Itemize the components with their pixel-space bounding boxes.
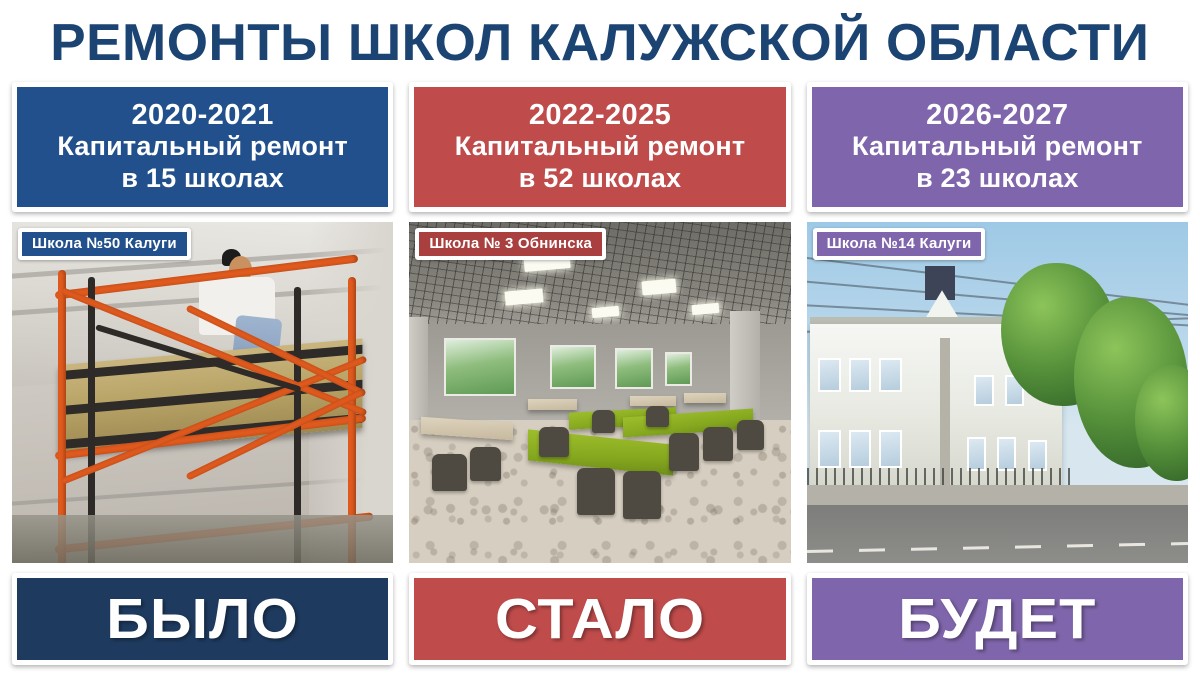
chair-2	[577, 468, 615, 516]
window-3	[615, 348, 653, 389]
building-window-7	[849, 430, 872, 468]
chair-8	[470, 447, 501, 481]
photo-future: Школа №14 Калуги	[807, 222, 1188, 563]
header-line2-future: Капитальный ремонт	[852, 131, 1143, 162]
header-card-now: 2022-2025 Капитальный ремонт в 52 школах	[409, 82, 790, 212]
header-years-before: 2020-2021	[132, 100, 274, 131]
window-2	[550, 345, 596, 389]
chair-5	[703, 427, 734, 461]
floor-shadow-shape	[12, 515, 393, 563]
header-card-before: 2020-2021 Капитальный ремонт в 15 школах	[12, 82, 393, 212]
header-years-now: 2022-2025	[529, 100, 671, 131]
photo-now: Школа № 3 Обнинска	[409, 222, 790, 563]
column-before: 2020-2021 Капитальный ремонт в 15 школах	[12, 82, 393, 665]
building-window-4	[974, 375, 993, 406]
building-window-11	[1028, 440, 1047, 471]
window-4	[665, 352, 692, 386]
table-far-1	[528, 399, 578, 409]
footer-bar-now: СТАЛО	[409, 573, 790, 665]
building-window-10	[997, 437, 1016, 471]
chair-4	[669, 433, 700, 471]
window-1	[444, 338, 516, 396]
header-line3-future: в 23 школах	[916, 163, 1079, 194]
building-window-3	[879, 358, 902, 392]
photo-scaffolding-ceiling-repair	[12, 222, 393, 563]
chair-7	[432, 454, 466, 492]
footer-bar-before: БЫЛО	[12, 573, 393, 665]
road-shape	[807, 505, 1188, 563]
building-window-9	[967, 437, 986, 471]
sidewalk-shape	[807, 485, 1188, 505]
photo-renovated-cafeteria	[409, 222, 790, 563]
building-window-8	[879, 430, 902, 468]
chair-9	[592, 410, 615, 434]
header-line3-before: в 15 школах	[121, 163, 284, 194]
footer-bar-future: БУДЕТ	[807, 573, 1188, 665]
table-far-2	[630, 396, 676, 406]
columns-container: 2020-2021 Капитальный ремонт в 15 школах	[0, 82, 1200, 675]
chair-3	[623, 471, 661, 519]
chair-6	[737, 420, 764, 451]
header-line3-now: в 52 школах	[519, 163, 682, 194]
photo-badge-now: Школа № 3 Обнинска	[415, 228, 606, 260]
chair-10	[646, 406, 669, 426]
page-title: РЕМОНТЫ ШКОЛ КАЛУЖСКОЙ ОБЛАСТИ	[50, 13, 1149, 73]
table-far-3	[684, 393, 726, 403]
photo-badge-before: Школа №50 Калуги	[18, 228, 191, 260]
header-line2-before: Капитальный ремонт	[57, 131, 348, 162]
column-now: 2022-2025 Капитальный ремонт в 52 школах	[409, 82, 790, 665]
footer-label-before: БЫЛО	[106, 586, 299, 652]
column-future: 2026-2027 Капитальный ремонт в 23 школах	[807, 82, 1188, 665]
footer-label-now: СТАЛО	[495, 586, 705, 652]
photo-before: Школа №50 Калуги	[12, 222, 393, 563]
header-line2-now: Капитальный ремонт	[455, 131, 746, 162]
fence-shape	[807, 468, 1074, 485]
infographic-root: РЕМОНТЫ ШКОЛ КАЛУЖСКОЙ ОБЛАСТИ 2020-2021…	[0, 0, 1200, 675]
photo-old-school-building	[807, 222, 1188, 563]
building-window-1	[818, 358, 841, 392]
building-window-2	[849, 358, 872, 392]
title-bar: РЕМОНТЫ ШКОЛ КАЛУЖСКОЙ ОБЛАСТИ	[0, 0, 1200, 82]
footer-label-future: БУДЕТ	[898, 586, 1096, 652]
building-window-6	[818, 430, 841, 468]
chair-1	[539, 427, 570, 458]
header-years-future: 2026-2027	[926, 100, 1068, 131]
header-card-future: 2026-2027 Капитальный ремонт в 23 школах	[807, 82, 1188, 212]
photo-badge-future: Школа №14 Калуги	[813, 228, 986, 260]
